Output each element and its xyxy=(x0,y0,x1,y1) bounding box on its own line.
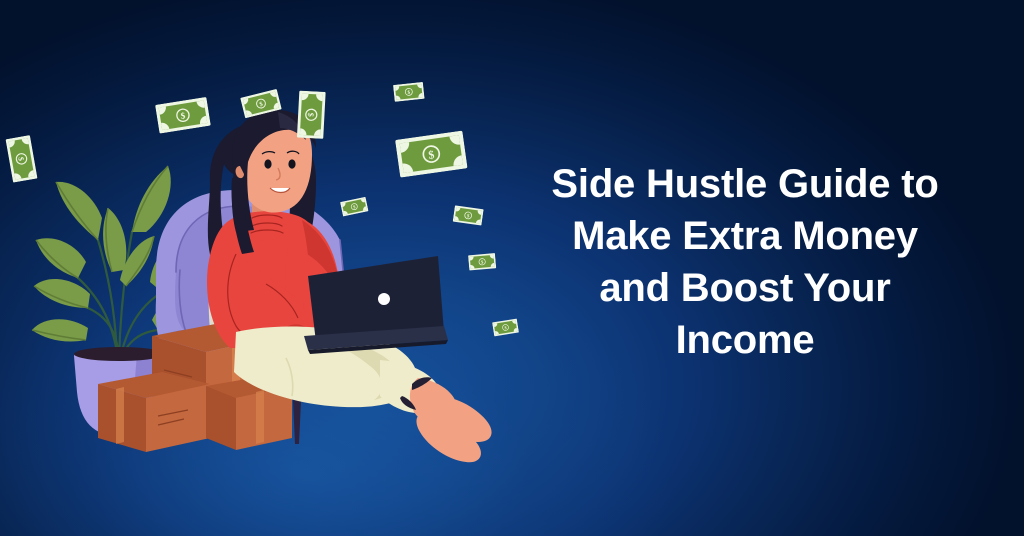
box-front-left xyxy=(98,372,210,452)
eye-left xyxy=(264,159,271,168)
dollar-bill xyxy=(468,253,496,270)
laptop-logo-icon xyxy=(378,293,390,305)
title-line-4: Income xyxy=(500,314,990,366)
dollar-bill xyxy=(340,197,368,217)
dollar-bill xyxy=(155,97,211,134)
page-title: Side Hustle Guide to Make Extra Money an… xyxy=(500,158,990,366)
poster-canvas: $ xyxy=(0,0,1024,536)
dollar-bill xyxy=(395,131,467,178)
dollar-bill xyxy=(453,205,484,225)
hero-illustration: $ xyxy=(40,40,540,470)
dollar-bill xyxy=(297,91,326,139)
title-line-3: and Boost Your xyxy=(500,262,990,314)
eye-right xyxy=(288,159,295,168)
title-line-1: Side Hustle Guide to xyxy=(500,158,990,210)
dollar-bill xyxy=(393,82,425,102)
title-line-2: Make Extra Money xyxy=(500,210,990,262)
